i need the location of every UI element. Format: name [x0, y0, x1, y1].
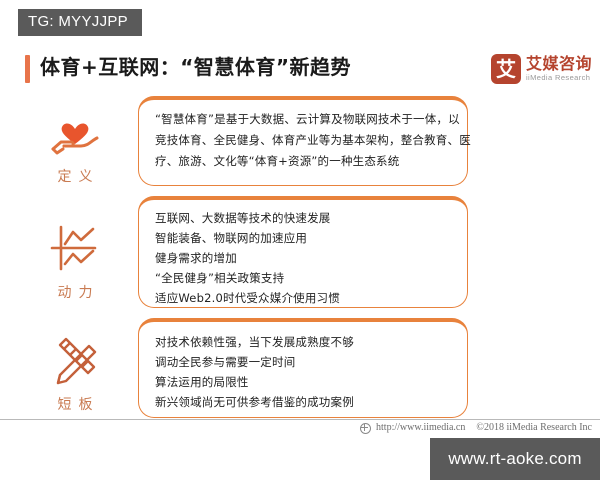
rail-label-motivation: 动力 [20, 284, 130, 302]
footer-url[interactable]: http://www.iimedia.cn [376, 421, 465, 435]
rail-item-definition: 定义 [20, 104, 130, 186]
bottom-white-strip [0, 438, 430, 480]
globe-icon [360, 423, 371, 434]
card-line: 疗、旅游、文化等“体育+资源”的一种生态系统 [155, 151, 453, 172]
shortcoming-card: 对技术依赖性强，当下发展成熟度不够 调动全民参与需要一定时间 算法运用的局限性 … [138, 318, 468, 418]
card-line: “智慧体育”是基于大数据、云计算及物联网技术于一体，以 [155, 109, 453, 130]
footer-divider [0, 419, 600, 420]
card-line: 互联网、大数据等技术的快速发展 [155, 208, 453, 228]
card-line: 竞技体育、全民健身、体育产业等为基本架构，整合教育、医 [155, 130, 453, 151]
rail-item-shortcoming: 短板 [20, 332, 130, 414]
site-watermark: www.rt-aoke.com [430, 438, 600, 480]
card-line: “全民健身”相关政策支持 [155, 268, 453, 288]
rail-label-shortcoming: 短板 [20, 396, 130, 414]
title-accent-bar [25, 55, 30, 83]
category-rail: 定义 动力 [20, 96, 130, 418]
card-line: 适应Web2.0时代受众媒介使用习惯 [155, 288, 453, 308]
footer: http://www.iimedia.cn ©2018 iiMedia Rese… [360, 421, 592, 435]
rail-item-motivation: 动力 [20, 220, 130, 302]
definition-card: “智慧体育”是基于大数据、云计算及物联网技术于一体，以 竞技体育、全民健身、体育… [138, 96, 468, 186]
motivation-card-text: 互联网、大数据等技术的快速发展 智能装备、物联网的加速应用 健身需求的增加 “全… [139, 200, 467, 308]
card-line: 调动全民参与需要一定时间 [155, 352, 453, 372]
tg-watermark-tag: TG: MYYJJPP [18, 9, 142, 36]
brand-name-en: iiMedia Research [526, 73, 592, 83]
ruler-pencil-icon [20, 332, 130, 390]
brand-text: 艾媒咨询 iiMedia Research [526, 55, 592, 83]
card-line: 智能装备、物联网的加速应用 [155, 228, 453, 248]
card-line: 健身需求的增加 [155, 248, 453, 268]
brand-name-cn: 艾媒咨询 [526, 55, 592, 72]
card-line: 算法运用的局限性 [155, 372, 453, 392]
iimedia-logo-icon: 艾 [491, 54, 521, 84]
footer-copyright: ©2018 iiMedia Research Inc [476, 421, 592, 435]
card-line: 对技术依赖性强，当下发展成熟度不够 [155, 332, 453, 352]
motivation-card: 互联网、大数据等技术的快速发展 智能装备、物联网的加速应用 健身需求的增加 “全… [138, 196, 468, 308]
heart-in-hand-icon [20, 104, 130, 162]
shortcoming-card-text: 对技术依赖性强，当下发展成熟度不够 调动全民参与需要一定时间 算法运用的局限性 … [139, 322, 467, 412]
card-line: 新兴领域尚无可供参考借鉴的成功案例 [155, 392, 453, 412]
trend-chart-icon [20, 220, 130, 278]
definition-card-text: “智慧体育”是基于大数据、云计算及物联网技术于一体，以 竞技体育、全民健身、体育… [139, 100, 467, 172]
rail-label-definition: 定义 [20, 168, 130, 186]
page-title: 体育+互联网：“智慧体育”新趋势 [40, 52, 351, 82]
brand-logo: 艾 艾媒咨询 iiMedia Research [491, 54, 592, 84]
